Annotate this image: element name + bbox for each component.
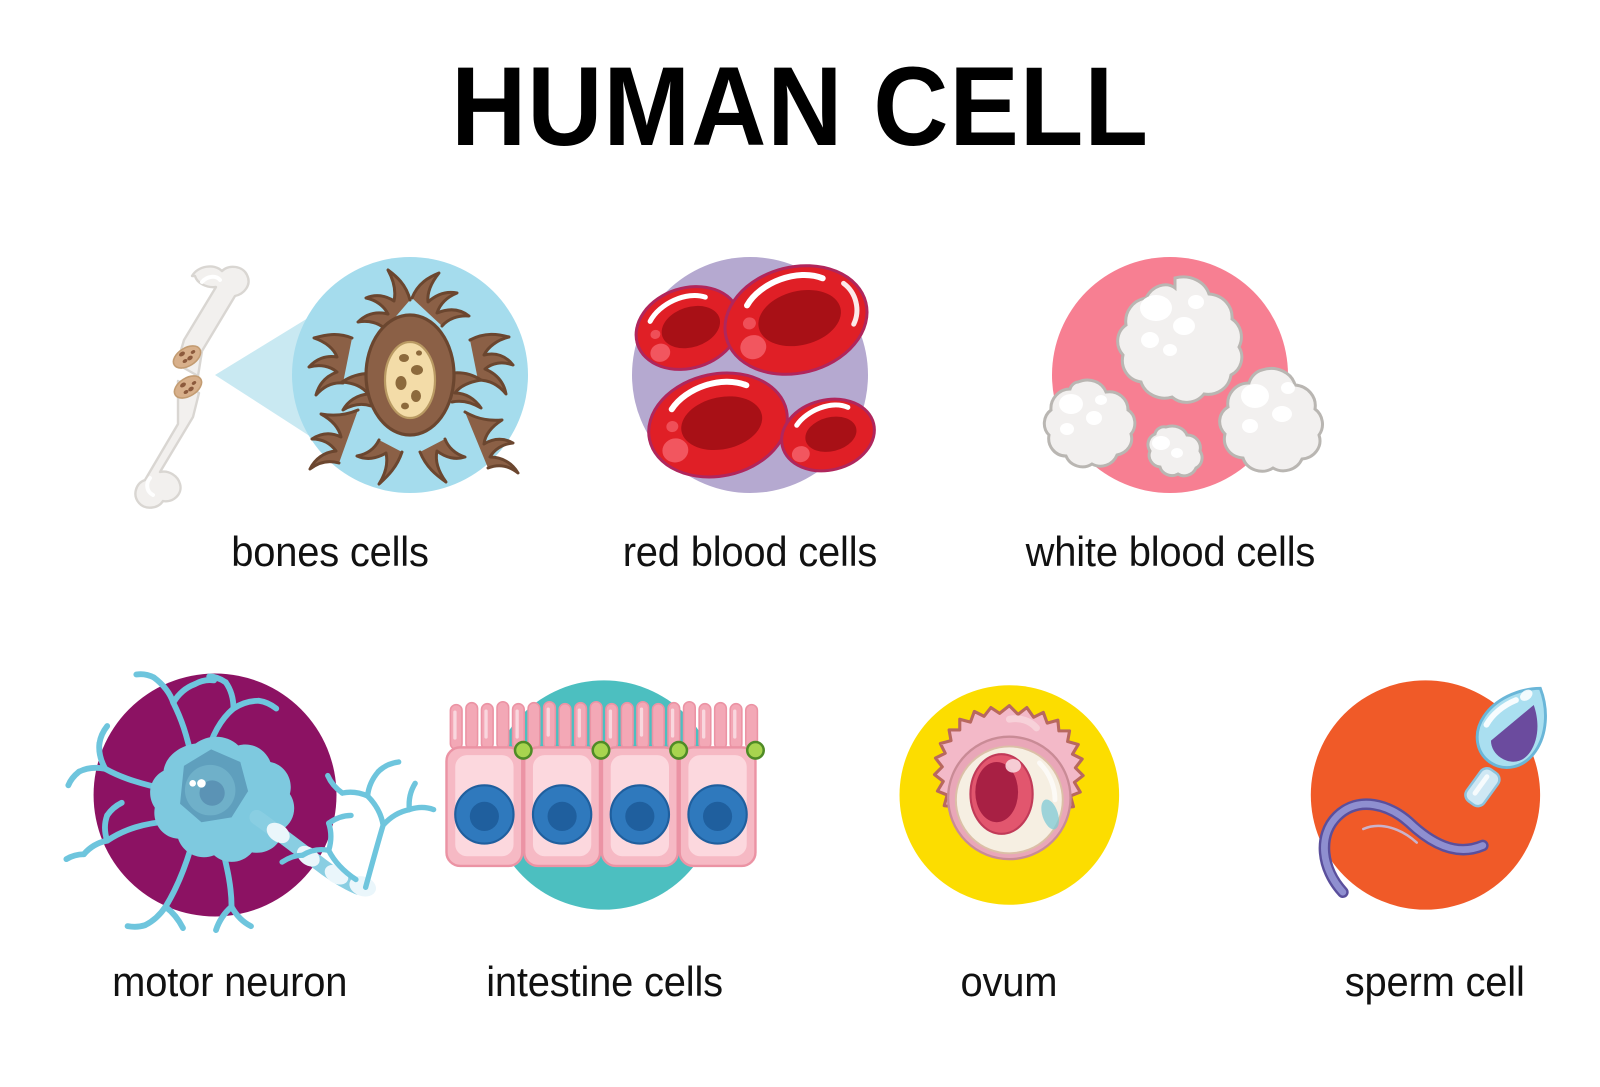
red-blood-cells-illustration [570,240,930,510]
nucleolus-highlight [189,780,196,787]
cell-row-2: motor neuron [0,650,1600,1006]
cell-card-bones-cells[interactable]: bones cells [120,240,540,576]
cell-label-motor-neuron: motor neuron [112,958,347,1006]
page-title: HUMAN CELL [56,48,1544,166]
epithelial-cell [524,747,600,866]
epithelial-cell [447,747,523,866]
cell-card-intestine-cells[interactable]: intestine cells [429,650,779,1006]
ovum-illustration [849,650,1170,940]
cell-label-intestine-cells: intestine cells [486,958,723,1006]
osteocyte-nucleus [385,342,435,418]
bones-cells-illustration [120,240,540,510]
epithelial-cell [680,747,756,866]
cell-label-white-blood-cells: white blood cells [1025,528,1315,576]
cell-card-red-blood-cells[interactable]: red blood cells [570,240,930,576]
motor-neuron-illustration [45,650,414,940]
sperm-cell-illustration [1270,650,1600,940]
cell-label-bones-cells: bones cells [231,528,429,576]
columnar-cells [447,747,756,866]
cell-card-sperm-cell[interactable]: sperm cell [1270,650,1600,1006]
white-blood-cells-illustration [970,240,1370,510]
bone-upper-icon [170,266,249,376]
cell-card-white-blood-cells[interactable]: white blood cells [970,240,1370,576]
ovum-nucleus-highlight [1005,759,1021,773]
cell-label-ovum: ovum [961,958,1058,1006]
intestine-cells-illustration [429,650,779,940]
cell-card-motor-neuron[interactable]: motor neuron [45,650,414,1006]
cell-label-sperm-cell: sperm cell [1345,958,1525,1006]
cell-label-red-blood-cells: red blood cells [623,528,877,576]
nucleolus-highlight [197,779,206,788]
cell-row-1: bones cells [0,240,1600,576]
human-cell-poster: HUMAN CELL [0,0,1600,1087]
epithelial-cell [602,747,678,866]
cell-card-ovum[interactable]: ovum [849,650,1170,1006]
bone-lower-icon [135,371,205,507]
